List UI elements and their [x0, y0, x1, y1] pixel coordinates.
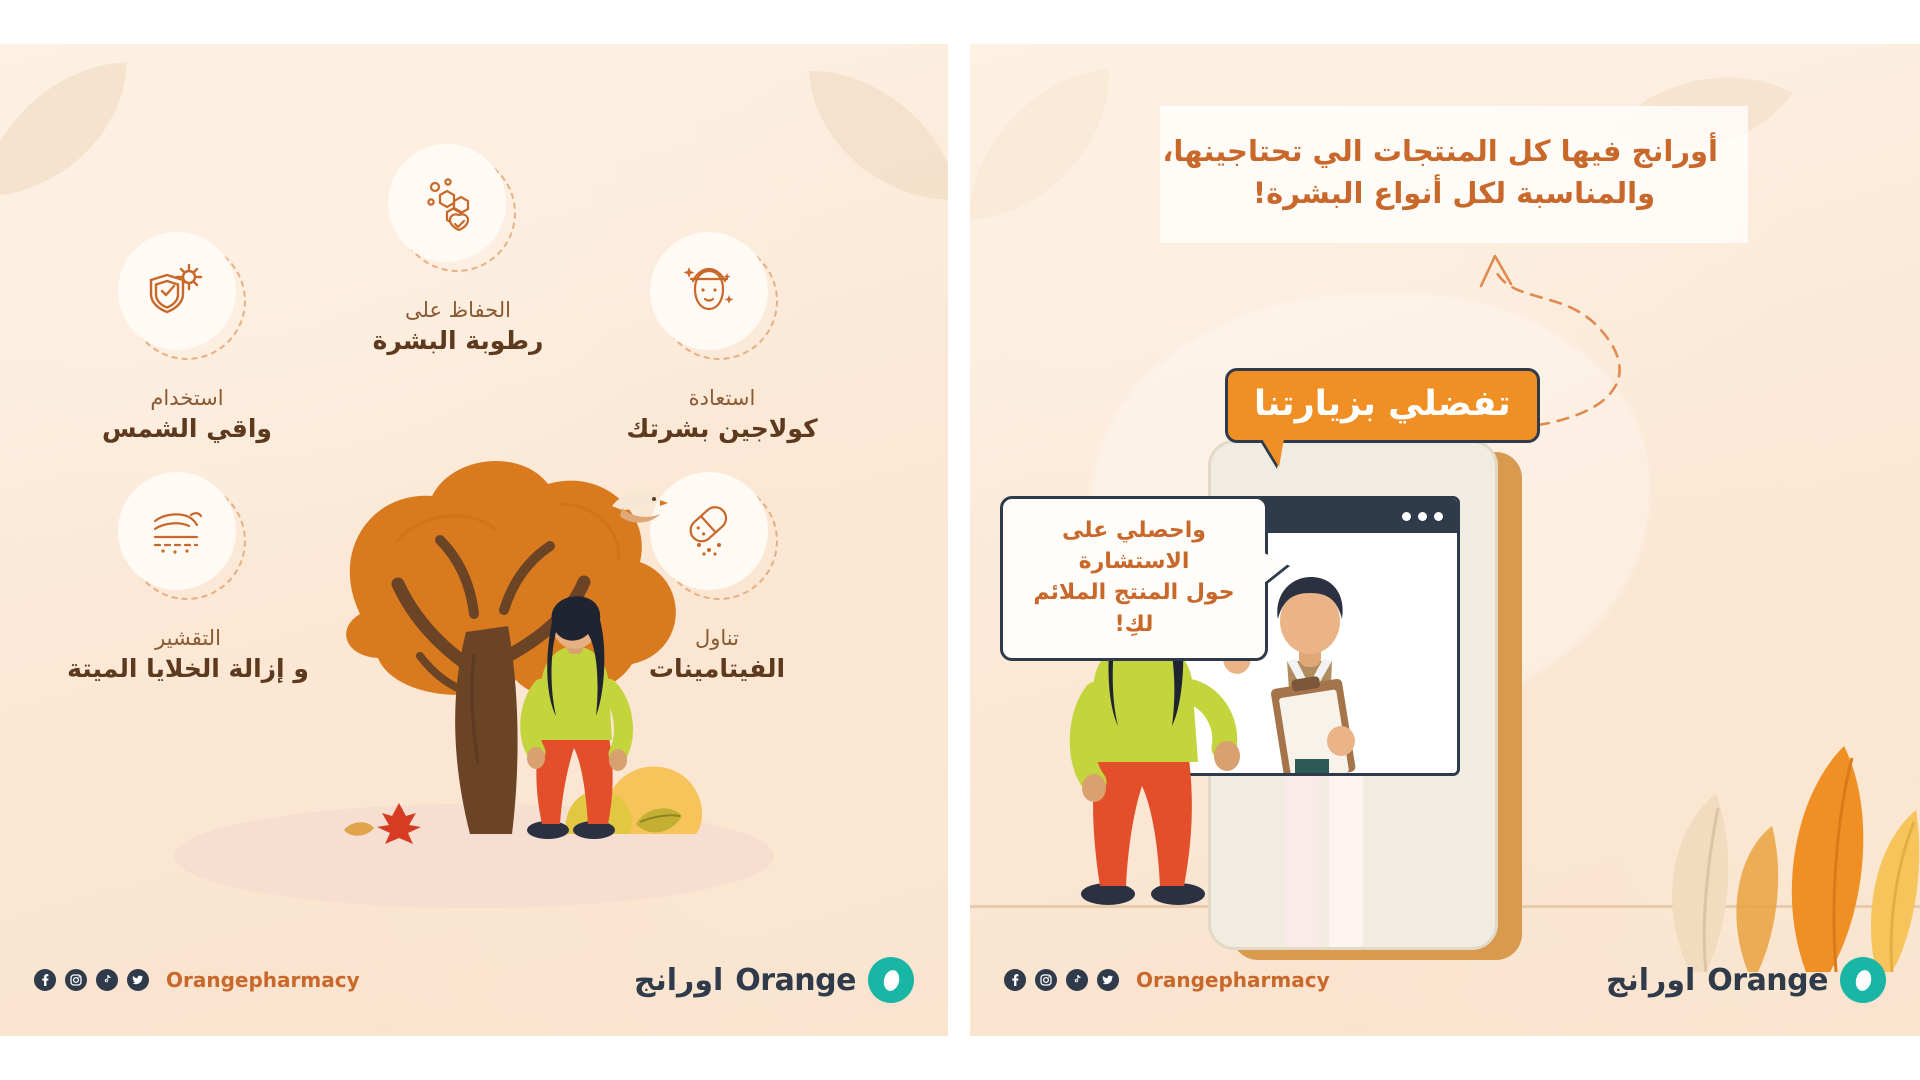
social-handle: Orangepharmacy — [166, 968, 360, 992]
bg-leaf-icon — [970, 47, 1158, 251]
bg-leaf-icon — [776, 52, 948, 228]
orange-drop-logo-icon — [1840, 957, 1886, 1003]
brand-logo: Orange اورانج — [634, 957, 914, 1003]
twitter-icon[interactable] — [1097, 969, 1119, 991]
moisture-molecule-shield-icon — [388, 144, 506, 262]
social-handle: Orangepharmacy — [1136, 968, 1330, 992]
consultation-line-1: واحصلي على الاستشارة — [1025, 515, 1243, 577]
facebook-icon[interactable] — [1004, 969, 1026, 991]
brand-logo: Orange اورانج — [1606, 957, 1886, 1003]
feature-label-moisture: الحفاظ على رطوبة البشرة — [368, 296, 548, 358]
brand-name-en: Orange — [735, 963, 856, 998]
instagram-icon[interactable] — [1035, 969, 1057, 991]
bg-leaf-icon — [0, 44, 164, 225]
facebook-icon[interactable] — [34, 969, 56, 991]
headline-card: أورانج فيها كل المنتجات الي تحتاجينها، و… — [1160, 106, 1748, 243]
feature-line-1: الحفاظ على — [405, 298, 511, 322]
browser-dot — [1418, 512, 1427, 521]
tiktok-icon[interactable] — [1066, 969, 1088, 991]
brand-name-en: Orange — [1707, 963, 1828, 998]
poster-left: أورانج فيها كل المنتجات الي تحتاجينها، و… — [970, 44, 1920, 1036]
consultation-line-2: حول المنتج الملائم لكِ! — [1025, 577, 1243, 639]
headline-line-2: والمناسبة لكل أنواع البشرة! — [1190, 172, 1718, 214]
footer-right: Orange اورانج Orangepharmacy — [0, 924, 948, 1036]
bubble-tail — [1262, 439, 1284, 467]
consultation-bubble: واحصلي على الاستشارة حول المنتج الملائم … — [1000, 496, 1268, 661]
twitter-icon[interactable] — [127, 969, 149, 991]
footer-left: Orange اورانج Orangepharmacy — [970, 924, 1920, 1036]
bubble-tail — [1264, 553, 1288, 583]
headline-line-1: أورانج فيها كل المنتجات الي تحتاجينها، — [1190, 130, 1718, 172]
instagram-icon[interactable] — [65, 969, 87, 991]
autumn-tree-girl-illustration — [0, 364, 948, 924]
poster-right: الحفاظ على رطوبة البشرة استخدام واقي الش… — [0, 44, 948, 1036]
brand-name-ar: اورانج — [1606, 963, 1695, 998]
visit-us-text: تفضلي بزيارتنا — [1254, 384, 1511, 424]
social-links[interactable]: Orangepharmacy — [1004, 968, 1330, 992]
browser-dot — [1402, 512, 1411, 521]
browser-dot — [1434, 512, 1443, 521]
feature-badge-sunscreen — [128, 242, 246, 360]
facial-collagen-icon — [650, 232, 768, 350]
orange-drop-logo-icon — [868, 957, 914, 1003]
tiktok-icon[interactable] — [96, 969, 118, 991]
feature-line-2: رطوبة البشرة — [368, 324, 548, 358]
feature-badge-collagen — [660, 242, 778, 360]
brand-name-ar: اورانج — [634, 963, 723, 998]
social-links[interactable]: Orangepharmacy — [34, 968, 360, 992]
sun-protection-shield-icon — [118, 232, 236, 350]
visit-us-bubble: تفضلي بزيارتنا — [1225, 368, 1540, 443]
poster-pair: أورانج فيها كل المنتجات الي تحتاجينها، و… — [0, 0, 1920, 1080]
feature-badge-moisture — [398, 154, 516, 272]
